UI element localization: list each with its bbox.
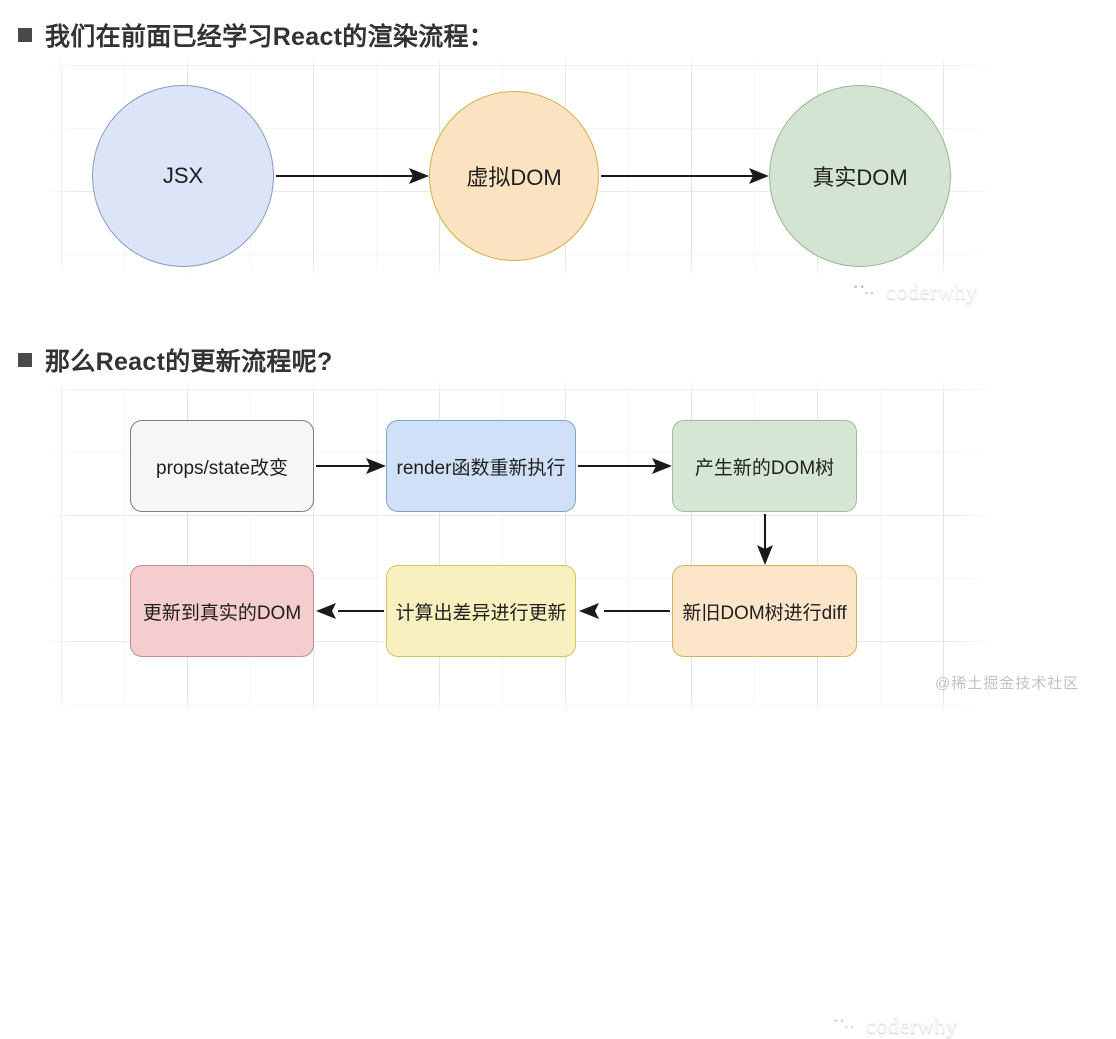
node-virtual-dom-label: 虚拟DOM — [466, 160, 561, 192]
node-update-real-dom[interactable]: 更新到真实的DOM — [130, 565, 314, 657]
update-flow-diagram: props/state改变 render函数重新执行 产生新的DOM树 新旧DO… — [48, 381, 992, 712]
node-jsx-label: JSX — [163, 163, 203, 189]
node-new-dom-tree-label: 产生新的DOM树 — [695, 453, 834, 480]
node-new-dom-tree[interactable]: 产生新的DOM树 — [672, 420, 857, 512]
watermark-coderwhy-circle: coderwhy — [848, 279, 978, 305]
bullet-square-icon — [18, 353, 32, 367]
arrow-head-newtree-to-diff — [757, 545, 773, 565]
watermark-coderwhy-box: coderwhy — [828, 1013, 958, 1039]
wechat-icon — [828, 1013, 858, 1039]
node-render-reexecute[interactable]: render函数重新执行 — [386, 420, 576, 512]
node-real-dom[interactable]: 真实DOM — [769, 85, 951, 267]
heading-render-flow: 我们在前面已经学习React的渲染流程： — [18, 17, 494, 53]
node-jsx[interactable]: JSX — [92, 85, 274, 267]
arrow-head-vdom-to-rdom — [749, 168, 769, 184]
node-dom-diff-label: 新旧DOM树进行diff — [682, 598, 846, 625]
arrow-head-render-to-newtree — [652, 458, 672, 474]
node-dom-diff[interactable]: 新旧DOM树进行diff — [672, 565, 857, 657]
heading-render-flow-text: 我们在前面已经学习React的渲染流程： — [45, 17, 494, 53]
heading-update-flow-text: 那么React的更新流程呢? — [45, 342, 333, 378]
arrow-head-calc-to-update — [316, 603, 336, 619]
node-update-real-dom-label: 更新到真实的DOM — [143, 598, 301, 625]
node-virtual-dom[interactable]: 虚拟DOM — [429, 91, 599, 261]
bullet-square-icon — [18, 28, 32, 42]
arrow-head-diff-to-calc — [579, 603, 599, 619]
watermark-author-text: coderwhy — [866, 1013, 958, 1039]
watermark-site-text: @稀土掘金技术社区 — [935, 672, 1079, 693]
node-props-state-change[interactable]: props/state改变 — [130, 420, 314, 512]
node-compute-diff-update[interactable]: 计算出差异进行更新 — [386, 565, 576, 657]
heading-update-flow: 那么React的更新流程呢? — [18, 342, 333, 378]
node-props-state-change-label: props/state改变 — [156, 453, 288, 480]
arrow-head-props-to-render — [366, 458, 386, 474]
watermark-author-text: coderwhy — [886, 279, 978, 305]
render-flow-diagram: JSX 虚拟DOM 真实DOM coderwhy — [48, 57, 992, 275]
wechat-icon — [848, 279, 878, 305]
arrow-head-jsx-to-vdom — [409, 168, 429, 184]
node-real-dom-label: 真实DOM — [812, 160, 907, 192]
node-compute-diff-update-label: 计算出差异进行更新 — [395, 598, 566, 625]
node-render-reexecute-label: render函数重新执行 — [397, 453, 566, 480]
